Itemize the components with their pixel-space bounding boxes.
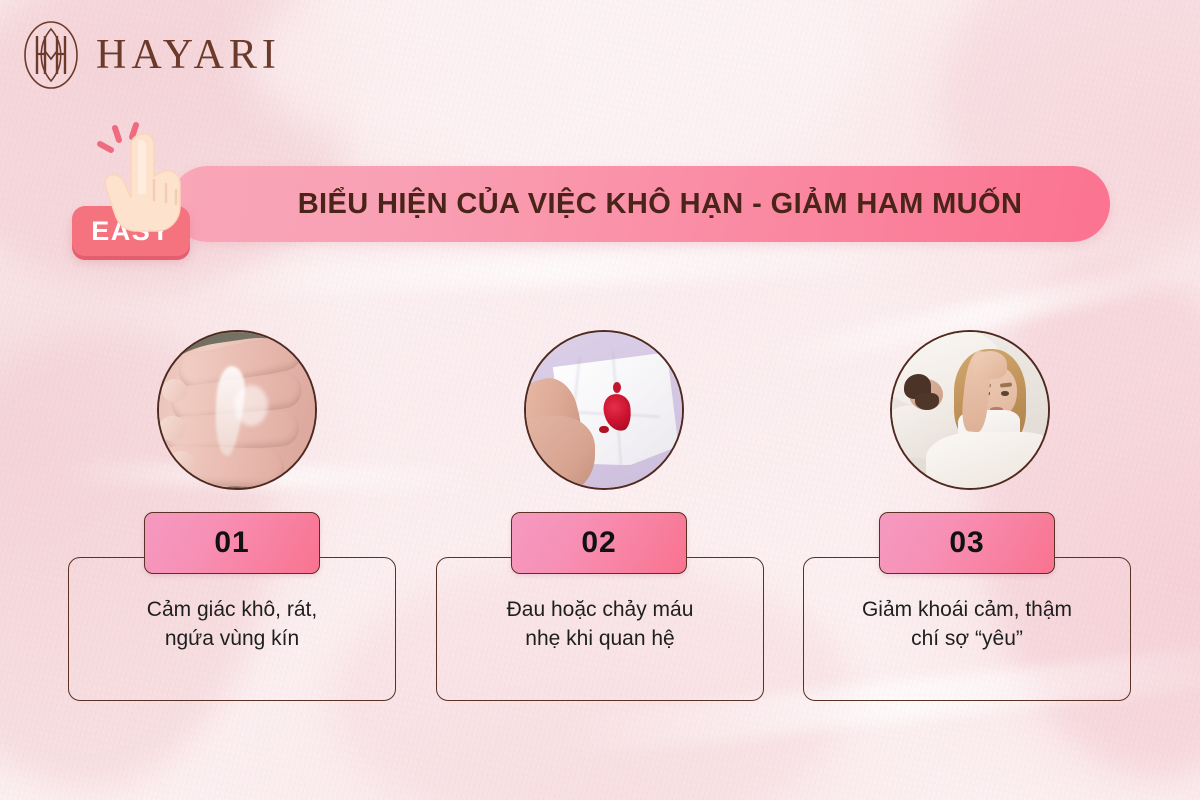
item-number-badge-1: 01 xyxy=(144,512,320,574)
page-title: BIỂU HIỆN CỦA VIỆC KHÔ HẠN - GIẢM HAM MU… xyxy=(258,188,1023,221)
title-banner: BIỂU HIỆN CỦA VIỆC KHÔ HẠN - GIẢM HAM MU… xyxy=(170,166,1110,242)
item-image-3 xyxy=(890,330,1050,490)
item-text-2: Đau hoặc chảy máu nhẹ khi quan hệ xyxy=(493,596,708,662)
woman-distressed-in-bed-with-sleeping-man-photo xyxy=(892,332,1048,488)
hayari-monogram-oval-icon xyxy=(22,20,80,90)
item-card-3: Giảm khoái cảm, thậm chí sợ “yêu” xyxy=(803,557,1131,701)
brand-name: HAYARI xyxy=(96,34,281,76)
item-image-2 xyxy=(524,330,684,490)
item-image-1 xyxy=(157,330,317,490)
item-number-2: 02 xyxy=(581,526,616,560)
item-text-3: Giảm khoái cảm, thậm chí sợ “yêu” xyxy=(848,596,1086,662)
pointing-hand-tap-icon xyxy=(88,120,198,235)
item-number-3: 03 xyxy=(949,526,984,560)
item-card-1: Cảm giác khô, rát, ngứa vùng kín xyxy=(68,557,396,701)
item-number-1: 01 xyxy=(214,526,249,560)
easy-badge-group: EASY xyxy=(72,120,207,255)
hand-holding-tissue-with-blood-photo xyxy=(526,332,682,488)
item-number-badge-3: 03 xyxy=(879,512,1055,574)
hand-palm-with-discharge-photo xyxy=(159,332,315,488)
item-number-badge-2: 02 xyxy=(511,512,687,574)
brand-logo: HAYARI xyxy=(22,20,281,90)
item-card-2: Đau hoặc chảy máu nhẹ khi quan hệ xyxy=(436,557,764,701)
item-text-1: Cảm giác khô, rát, ngứa vùng kín xyxy=(133,596,331,662)
